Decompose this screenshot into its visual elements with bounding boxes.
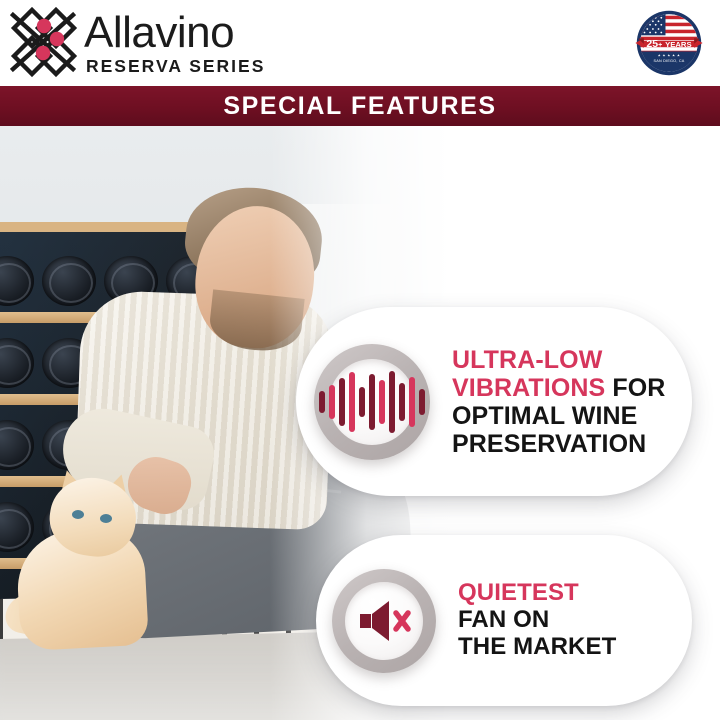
muted-speaker-icon-ring — [332, 569, 436, 673]
banner-title: SPECIAL FEATURES — [223, 92, 496, 121]
feature-line-suffix: FOR — [605, 374, 665, 402]
cat-eye — [100, 514, 112, 523]
brand-series: RESERVA SERIES — [86, 58, 265, 76]
feature-line: QUIETEST — [458, 580, 616, 607]
hero-stage: ULTRA-LOW VIBRATIONS FOR OPTIMAL WINE PR… — [0, 126, 720, 720]
usa-anniversary-badge-icon: 25+ YEARS ★ ★ ★ ★ ★ SAN DIEGO, CA — [634, 8, 704, 78]
allavino-lattice-diamond-logo-icon — [10, 6, 78, 78]
brand-name: Allavino — [84, 11, 265, 55]
feature-line: PRESERVATION — [452, 430, 665, 458]
feature-card-quietest-fan[interactable]: QUIETEST FAN ON THE MARKET — [316, 535, 692, 706]
feature-line: THE MARKET — [458, 634, 616, 661]
badge-years-text: 25+ YEARS — [646, 38, 691, 50]
feature-card-vibrations[interactable]: ULTRA-LOW VIBRATIONS FOR OPTIMAL WINE PR… — [296, 307, 692, 496]
sound-wave-icon — [319, 371, 425, 433]
feature-card-quietest-fan-text: QUIETEST FAN ON THE MARKET — [458, 580, 616, 661]
special-features-banner-bar: SPECIAL FEATURES — [0, 86, 720, 126]
feature-line: FAN ON — [458, 607, 616, 634]
muted-speaker-icon — [357, 599, 411, 643]
sound-wave-icon-ring — [314, 344, 430, 460]
brand-logo[interactable]: Allavino RESERVA SERIES — [10, 6, 265, 78]
muted-speaker-icon-inner — [345, 582, 423, 660]
feature-line: VIBRATIONS FOR — [452, 374, 665, 402]
feature-line: OPTIMAL WINE — [452, 402, 665, 430]
header: Allavino RESERVA SERIES — [0, 0, 720, 86]
badge-location-text: SAN DIEGO, CA — [654, 59, 685, 63]
special-features-banner: Allavino RESERVA SERIES — [0, 0, 720, 720]
brand-wordmark: Allavino RESERVA SERIES — [84, 9, 265, 76]
feature-line-accent: VIBRATIONS — [452, 374, 605, 402]
sound-wave-icon-inner — [329, 359, 415, 445]
feature-line: ULTRA-LOW — [452, 346, 665, 374]
feature-card-vibrations-text: ULTRA-LOW VIBRATIONS FOR OPTIMAL WINE PR… — [452, 346, 665, 458]
cat-eye — [72, 510, 84, 519]
badge-stars: ★ ★ ★ ★ ★ — [658, 53, 681, 57]
